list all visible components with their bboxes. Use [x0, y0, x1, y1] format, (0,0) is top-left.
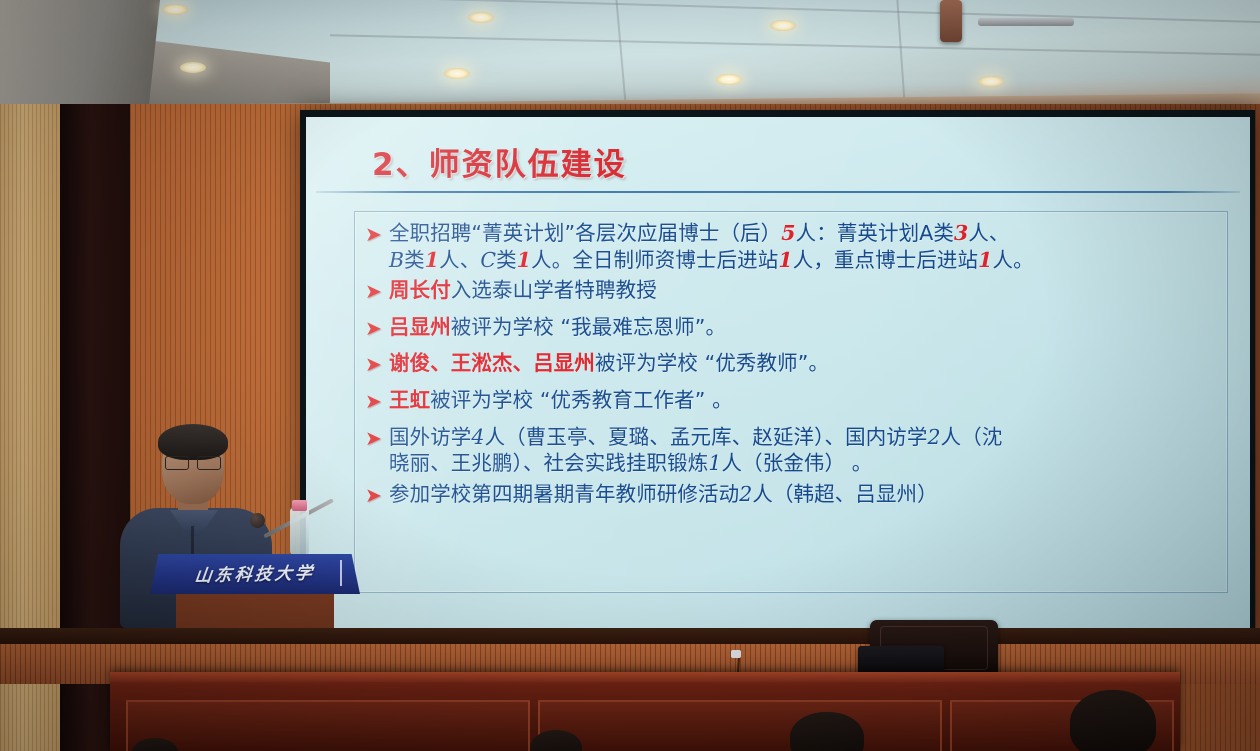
- bullet-arrow-icon: ➤: [365, 389, 389, 415]
- speaker-glasses: [165, 456, 221, 468]
- cable-connector: [731, 650, 741, 658]
- ceiling-seam: [896, 0, 905, 104]
- bullet-unforgettable-mentor: 吕显州被评为学校 “我最难忘恩师”。: [389, 314, 1217, 341]
- ceiling-downlight: [162, 4, 188, 15]
- audience-head: [790, 712, 864, 751]
- bullet-item: ➤周长付入选泰山学者特聘教授: [365, 277, 1217, 305]
- speaker-hair: [158, 424, 228, 460]
- bullet-excellent-educator: 王虹被评为学校 “优秀教育工作者” 。: [389, 387, 1217, 414]
- water-bottle-cap: [292, 500, 307, 511]
- table-front-panel: [538, 700, 942, 751]
- microphone-head: [250, 513, 265, 528]
- ceiling-downlight: [180, 62, 206, 73]
- slide-title: 2、师资队伍建设: [372, 139, 627, 184]
- bullet-arrow-icon: ➤: [365, 316, 389, 342]
- bullet-excellent-teacher: 谢俊、王淞杰、吕显州被评为学校 “优秀教师”。: [389, 350, 1217, 377]
- conference-table-lip: [110, 672, 1180, 682]
- bullet-summer-training: 参加学校第四期暑期青年教师研修活动2人（韩超、吕显州）: [389, 481, 1217, 508]
- bullet-item: ➤吕显州被评为学校 “我最难忘恩师”。: [365, 314, 1217, 342]
- ceiling-downlight: [978, 76, 1004, 87]
- title-divider: [316, 191, 1240, 193]
- ceiling-downlight: [716, 74, 742, 85]
- ceiling-seam: [330, 34, 1260, 55]
- projector-mount-arm: [978, 18, 1074, 26]
- ceiling-downlight: [444, 68, 470, 79]
- audience-head: [1070, 690, 1156, 751]
- lecture-hall-scene: 2、师资队伍建设 ➤全职招聘“菁英计划”各层次应届博士（后）5人：菁英计划A类3…: [0, 0, 1260, 751]
- bullet-arrow-icon: ➤: [365, 222, 389, 248]
- bullet-item: ➤全职招聘“菁英计划”各层次应届博士（后）5人：菁英计划A类3人、B类1人、C类…: [365, 220, 1217, 273]
- bullet-visiting-scholars: 国外访学4人（曹玉亭、夏璐、孟元库、赵延洋）、国内访学2人（沈晓丽、王兆鹏）、社…: [389, 424, 1217, 477]
- bullet-arrow-icon: ➤: [365, 279, 389, 305]
- bullet-list: ➤全职招聘“菁英计划”各层次应届博士（后）5人：菁英计划A类3人、B类1人、C类…: [365, 220, 1217, 509]
- water-bottle: [290, 508, 309, 556]
- bullet-item: ➤参加学校第四期暑期青年教师研修活动2人（韩超、吕显州）: [365, 481, 1217, 509]
- table-front-panel: [126, 700, 530, 751]
- ceiling-projector: [940, 0, 962, 42]
- bullet-item: ➤王虹被评为学校 “优秀教育工作者” 。: [365, 387, 1217, 415]
- bullet-arrow-icon: ➤: [365, 426, 389, 452]
- bullet-item: ➤谢俊、王淞杰、吕显州被评为学校 “优秀教师”。: [365, 350, 1217, 378]
- projected-slide: 2、师资队伍建设 ➤全职招聘“菁英计划”各层次应届博士（后）5人：菁英计划A类3…: [306, 117, 1250, 633]
- bullet-arrow-icon: ➤: [365, 352, 389, 378]
- bullet-taishan-scholar: 周长付入选泰山学者特聘教授: [389, 277, 1217, 304]
- bullet-recruitment: 全职招聘“菁英计划”各层次应届博士（后）5人：菁英计划A类3人、B类1人、C类1…: [389, 220, 1217, 273]
- ceiling-seam: [615, 0, 626, 104]
- ceiling-downlight: [770, 20, 796, 31]
- slide-content-box: ➤全职招聘“菁英计划”各层次应届博士（后）5人：菁英计划A类3人、B类1人、C类…: [354, 211, 1228, 593]
- ceiling-downlight: [468, 12, 494, 23]
- bullet-arrow-icon: ➤: [365, 483, 389, 509]
- podium-banner-tick: [340, 560, 342, 586]
- bullet-item: ➤国外访学4人（曹玉亭、夏璐、孟元库、赵延洋）、国内访学2人（沈晓丽、王兆鹏）、…: [365, 424, 1217, 477]
